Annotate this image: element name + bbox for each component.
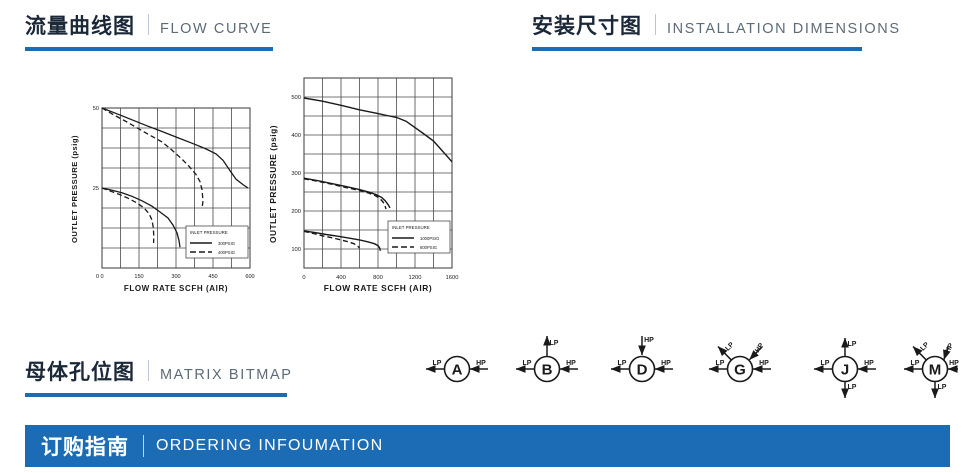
- flow-curve-chart-low: 50 25 0 OUTLET PRESSURE (psig) 0 150 300…: [66, 98, 256, 294]
- matrix-port-label-lp: LP: [550, 340, 559, 347]
- matrix-port-label-lp: LP: [848, 341, 857, 348]
- matrix-port-label-hp: HP: [754, 342, 766, 354]
- ordering-title-cn: 订购指南: [41, 431, 129, 461]
- flow-curve-title-cn: 流量曲线图: [25, 14, 135, 40]
- chart-legend: INLET PRESSURE 1000PSIG 600PSIG: [388, 221, 450, 253]
- matrix-symbol-D: D LP HP HP: [611, 336, 673, 382]
- chart-y-axis: 500 400 300 200 100: [291, 95, 301, 253]
- ytick-300: 300: [291, 171, 301, 177]
- matrix-port-label-hp: HP: [476, 360, 486, 367]
- chart-y-axis: 50 25 0: [93, 106, 99, 280]
- matrix-symbol-J: J LP HP LP LP: [814, 338, 876, 398]
- legend-entry-dashed: 600PSIG: [420, 245, 437, 250]
- section-header-flow-curve: 流量曲线图 FLOW CURVE: [25, 12, 273, 51]
- series-25-300psig: [102, 188, 180, 247]
- matrix-port-label-lp: LP: [821, 360, 830, 367]
- matrix-symbols-row: A LP HP B LP HP LP D LP HP: [420, 332, 960, 402]
- matrix-port-label-lp: LP: [523, 360, 532, 367]
- chart-legend: INLET PRESSURE 300PSIG 400PSIG: [186, 226, 248, 258]
- matrix-symbol-A: A LP HP: [426, 357, 488, 382]
- matrix-port-label-lp: LP: [919, 341, 931, 353]
- xtick-0: 0: [302, 275, 305, 281]
- matrix-symbol-M: M LP HP LP HP LP: [904, 341, 959, 398]
- series-100-600psig: [304, 231, 360, 248]
- ordering-banner: 订购指南 ORDERING INFOUMATION: [25, 425, 950, 467]
- xtick-600: 600: [245, 274, 254, 280]
- matrix-symbol-letter: J: [841, 362, 849, 379]
- flow-curve-chart-high-svg: 500 400 300 200 100 OUTLET PRESSURE (psi…: [262, 68, 462, 294]
- ytick-0: 0: [96, 274, 99, 280]
- ytick-25: 25: [93, 186, 99, 192]
- matrix-port-label-lp: LP: [848, 384, 857, 391]
- flow-curve-chart-high: 500 400 300 200 100 OUTLET PRESSURE (psi…: [262, 68, 462, 294]
- matrix-symbol-G: G LP HP LP HP: [709, 341, 771, 381]
- legend-entry-solid: 300PSIG: [218, 241, 235, 246]
- xtick-300: 300: [171, 274, 180, 280]
- ytick-500: 500: [291, 95, 301, 101]
- matrix-port-label-lp: LP: [433, 360, 442, 367]
- ytick-50: 50: [93, 106, 99, 112]
- matrix-port-label-hp: HP: [759, 360, 769, 367]
- series-25-400psig: [102, 188, 154, 243]
- matrix-title-row: 母体孔位图 MATRIX BITMAP: [25, 358, 293, 386]
- matrix-title-en: MATRIX BITMAP: [160, 365, 293, 385]
- chart-x-axis: 0 400 800 1200 1600: [302, 275, 458, 281]
- ytick-200: 200: [291, 209, 301, 215]
- matrix-port-label-lp: LP: [911, 360, 920, 367]
- ytick-100: 100: [291, 247, 301, 253]
- matrix-symbols-svg: A LP HP B LP HP LP D LP HP: [420, 332, 960, 402]
- matrix-symbol-letter: A: [452, 362, 463, 379]
- banner-divider: [143, 435, 144, 457]
- series-250-1000psig: [304, 178, 390, 208]
- legend-entry-dashed: 400PSIG: [218, 250, 235, 255]
- title-divider: [148, 14, 149, 35]
- installation-title-en: INSTALLATION DIMENSIONS: [667, 19, 901, 39]
- matrix-port-label-lp: LP: [938, 384, 947, 391]
- title-divider: [148, 360, 149, 381]
- installation-underline: [532, 47, 862, 51]
- xtick-1600: 1600: [446, 275, 459, 281]
- legend-title: INLET PRESSURE: [392, 225, 430, 230]
- ordering-title-en: ORDERING INFOUMATION: [156, 437, 383, 455]
- matrix-port-label-hp: HP: [944, 342, 955, 354]
- matrix-port-label-hp: HP: [644, 337, 654, 344]
- matrix-symbol-letter: D: [637, 362, 648, 379]
- chart-y-axis-label: OUTLET PRESSURE (psig): [70, 135, 79, 243]
- flow-curve-title-row: 流量曲线图 FLOW CURVE: [25, 12, 273, 40]
- matrix-symbol-letter: G: [734, 362, 746, 379]
- flow-curve-title-en: FLOW CURVE: [160, 19, 272, 39]
- matrix-underline: [25, 393, 287, 397]
- chart-y-axis-label: OUTLET PRESSURE (psig): [268, 125, 278, 243]
- matrix-port-label-hp: HP: [949, 360, 959, 367]
- chart-x-axis-label: FLOW RATE SCFH (AIR): [324, 283, 433, 293]
- flow-curve-underline: [25, 47, 273, 51]
- matrix-symbol-letter: M: [929, 362, 942, 379]
- matrix-symbol-B: B LP HP LP: [516, 336, 578, 382]
- matrix-title-cn: 母体孔位图: [25, 360, 135, 386]
- xtick-450: 450: [208, 274, 217, 280]
- section-header-installation: 安装尺寸图 INSTALLATION DIMENSIONS: [532, 12, 901, 51]
- section-header-matrix: 母体孔位图 MATRIX BITMAP: [25, 358, 293, 397]
- xtick-800: 800: [373, 275, 383, 281]
- legend-title: INLET PRESSURE: [190, 230, 228, 235]
- chart-x-axis: 0 150 300 450 600: [100, 274, 254, 280]
- ytick-400: 400: [291, 133, 301, 139]
- matrix-port-label-lp: LP: [618, 360, 627, 367]
- installation-title-row: 安装尺寸图 INSTALLATION DIMENSIONS: [532, 12, 901, 40]
- matrix-port-label-lp: LP: [716, 360, 725, 367]
- flow-curve-chart-low-svg: 50 25 0 OUTLET PRESSURE (psig) 0 150 300…: [66, 98, 256, 294]
- matrix-symbol-letter: B: [542, 362, 553, 379]
- matrix-port-label-lp: LP: [724, 341, 736, 353]
- matrix-port-label-hp: HP: [566, 360, 576, 367]
- title-divider: [655, 14, 656, 35]
- legend-entry-solid: 1000PSIG: [420, 236, 439, 241]
- chart-x-axis-label: FLOW RATE SCFH (AIR): [124, 284, 228, 293]
- matrix-port-label-hp: HP: [864, 360, 874, 367]
- xtick-150: 150: [134, 274, 143, 280]
- matrix-port-label-hp: HP: [661, 360, 671, 367]
- installation-title-cn: 安装尺寸图: [532, 14, 642, 40]
- xtick-400: 400: [336, 275, 346, 281]
- xtick-0: 0: [100, 274, 103, 280]
- xtick-1200: 1200: [409, 275, 422, 281]
